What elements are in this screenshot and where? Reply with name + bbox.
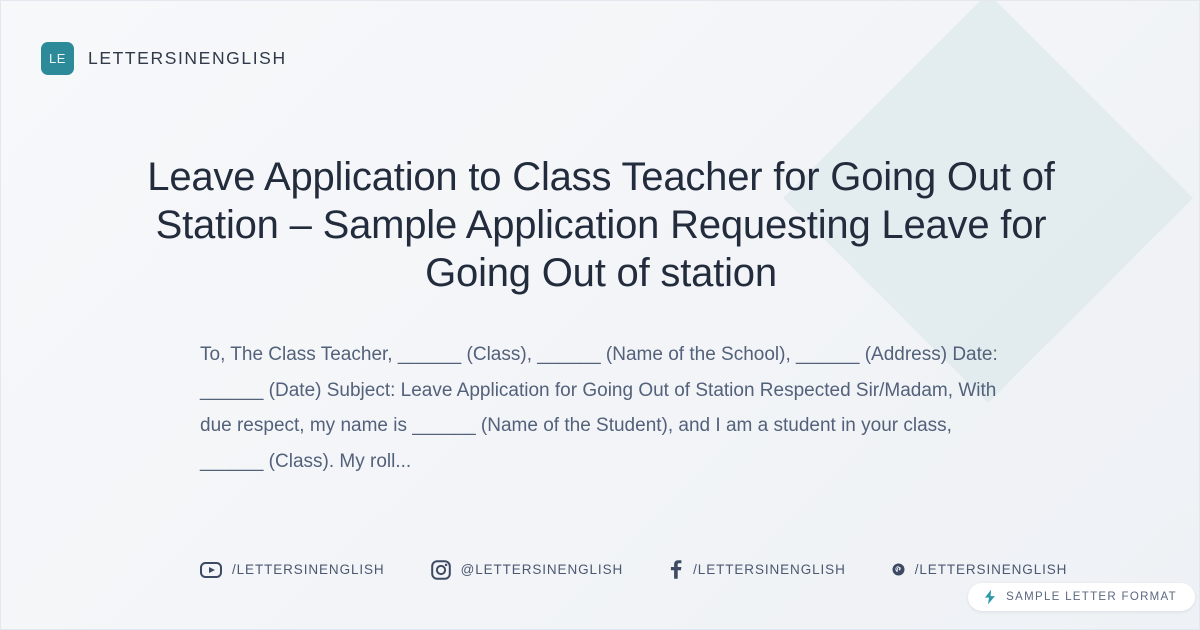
social-link-facebook[interactable]: /LETTERSINENGLISH: [669, 559, 846, 580]
pinterest-icon: [892, 563, 905, 576]
social-links-row: /LETTERSINENGLISH @LETTERSINENGLISH: [200, 559, 1067, 580]
instagram-icon: [431, 560, 451, 580]
article-share-card: LE LETTERSINENGLISH Leave Application to…: [0, 0, 1200, 630]
facebook-icon: [669, 559, 683, 580]
page-title: Leave Application to Class Teacher for G…: [101, 153, 1101, 297]
social-link-instagram[interactable]: @LETTERSINENGLISH: [431, 560, 624, 580]
brand-monogram-icon: LE: [41, 42, 74, 75]
social-label-youtube: /LETTERSINENGLISH: [232, 562, 385, 577]
badge-label: SAMPLE LETTER FORMAT: [1006, 591, 1177, 603]
card-content: LE LETTERSINENGLISH Leave Application to…: [1, 1, 1199, 629]
article-excerpt: To, The Class Teacher, ______ (Class), _…: [200, 337, 1006, 479]
youtube-icon: [200, 562, 222, 578]
brand-wordmark: LETTERSINENGLISH: [88, 48, 287, 69]
lightning-bolt-icon: [983, 589, 997, 605]
social-label-facebook: /LETTERSINENGLISH: [693, 562, 846, 577]
social-link-youtube[interactable]: /LETTERSINENGLISH: [200, 562, 385, 578]
social-label-instagram: @LETTERSINENGLISH: [461, 562, 624, 577]
status-badge[interactable]: SAMPLE LETTER FORMAT: [968, 583, 1195, 611]
brand-logo[interactable]: LE LETTERSINENGLISH: [41, 42, 287, 75]
social-label-pinterest: /LETTERSINENGLISH: [915, 562, 1068, 577]
social-link-pinterest[interactable]: /LETTERSINENGLISH: [892, 562, 1068, 577]
